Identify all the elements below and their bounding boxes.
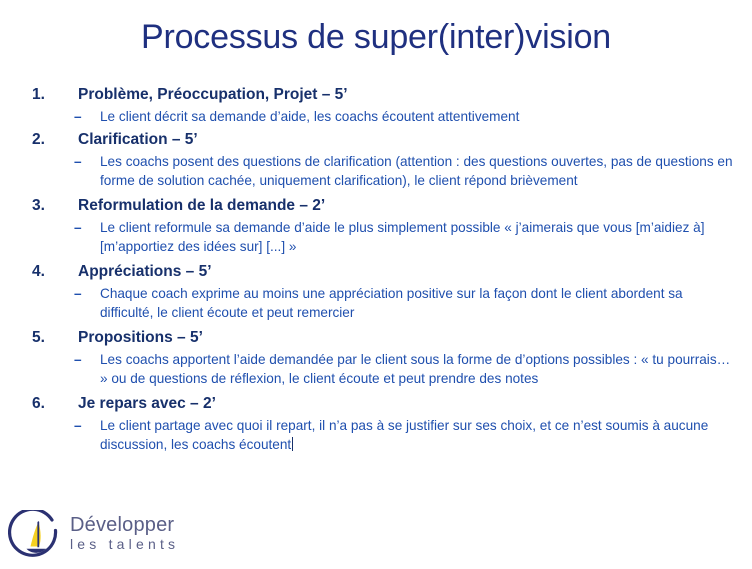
step-heading: 6. Je repars avec – 2’ <box>0 393 752 414</box>
step-detail-text: Les coachs posent des questions de clari… <box>100 154 733 188</box>
step-heading-label: Problème, Préoccupation, Projet – 5’ <box>78 86 348 103</box>
step-number: 5. <box>32 327 45 348</box>
step-heading-label: Reformulation de la demande – 2’ <box>78 197 325 214</box>
step-heading-label: Propositions – 5’ <box>78 329 203 346</box>
slide-canvas: Processus de super(inter)vision 1. Probl… <box>0 0 752 566</box>
logo-line-2: les talents <box>70 536 240 553</box>
logo-line-1: Développer <box>70 514 240 536</box>
brand-logo: Développer les talents <box>8 508 238 566</box>
step-heading-label: Appréciations – 5’ <box>78 263 212 280</box>
step-number: 2. <box>32 129 45 150</box>
step-heading-label: Clarification – 5’ <box>78 131 198 148</box>
list-item: 5. Propositions – 5’ – Les coachs apport… <box>0 327 752 388</box>
step-number: 3. <box>32 195 45 216</box>
logo-wordmark: Développer les talents <box>70 514 240 553</box>
step-detail-text: Le client partage avec quoi il repart, i… <box>100 418 708 452</box>
step-detail: – Les coachs posent des questions de cla… <box>0 152 752 190</box>
bullet-dash-icon: – <box>74 350 82 369</box>
bullet-dash-icon: – <box>74 416 82 435</box>
step-number: 1. <box>32 84 45 105</box>
step-detail-text: Chaque coach exprime au moins une appréc… <box>100 286 683 320</box>
list-item: 2. Clarification – 5’ – Les coachs posen… <box>0 129 752 190</box>
bullet-dash-icon: – <box>74 107 82 126</box>
step-detail: – Le client reformule sa demande d’aide … <box>0 218 752 256</box>
step-heading: 3. Reformulation de la demande – 2’ <box>0 195 752 216</box>
step-heading: 1. Problème, Préoccupation, Projet – 5’ <box>0 84 752 105</box>
step-heading: 2. Clarification – 5’ <box>0 129 752 150</box>
step-detail: – Le client décrit sa demande d’aide, le… <box>0 107 752 126</box>
step-detail-text: Le client reformule sa demande d’aide le… <box>100 220 704 254</box>
page-title: Processus de super(inter)vision <box>0 16 752 58</box>
list-item: 6. Je repars avec – 2’ – Le client parta… <box>0 393 752 454</box>
sailboat-in-circle-icon <box>8 510 62 564</box>
step-detail-text: Le client décrit sa demande d’aide, les … <box>100 109 519 124</box>
step-heading-label: Je repars avec – 2’ <box>78 395 216 412</box>
list-item: 3. Reformulation de la demande – 2’ – Le… <box>0 195 752 256</box>
bullet-dash-icon: – <box>74 218 82 237</box>
step-heading: 5. Propositions – 5’ <box>0 327 752 348</box>
step-number: 6. <box>32 393 45 414</box>
step-detail-text: Les coachs apportent l’aide demandée par… <box>100 352 730 386</box>
step-number: 4. <box>32 261 45 282</box>
bullet-dash-icon: – <box>74 152 82 171</box>
text-cursor <box>292 437 293 451</box>
process-steps-list: 1. Problème, Préoccupation, Projet – 5’ … <box>0 84 752 454</box>
step-heading: 4. Appréciations – 5’ <box>0 261 752 282</box>
step-detail: – Chaque coach exprime au moins une appr… <box>0 284 752 322</box>
list-item: 4. Appréciations – 5’ – Chaque coach exp… <box>0 261 752 322</box>
bullet-dash-icon: – <box>74 284 82 303</box>
list-item: 1. Problème, Préoccupation, Projet – 5’ … <box>0 84 752 126</box>
step-detail: – Les coachs apportent l’aide demandée p… <box>0 350 752 388</box>
step-detail: – Le client partage avec quoi il repart,… <box>0 416 752 454</box>
